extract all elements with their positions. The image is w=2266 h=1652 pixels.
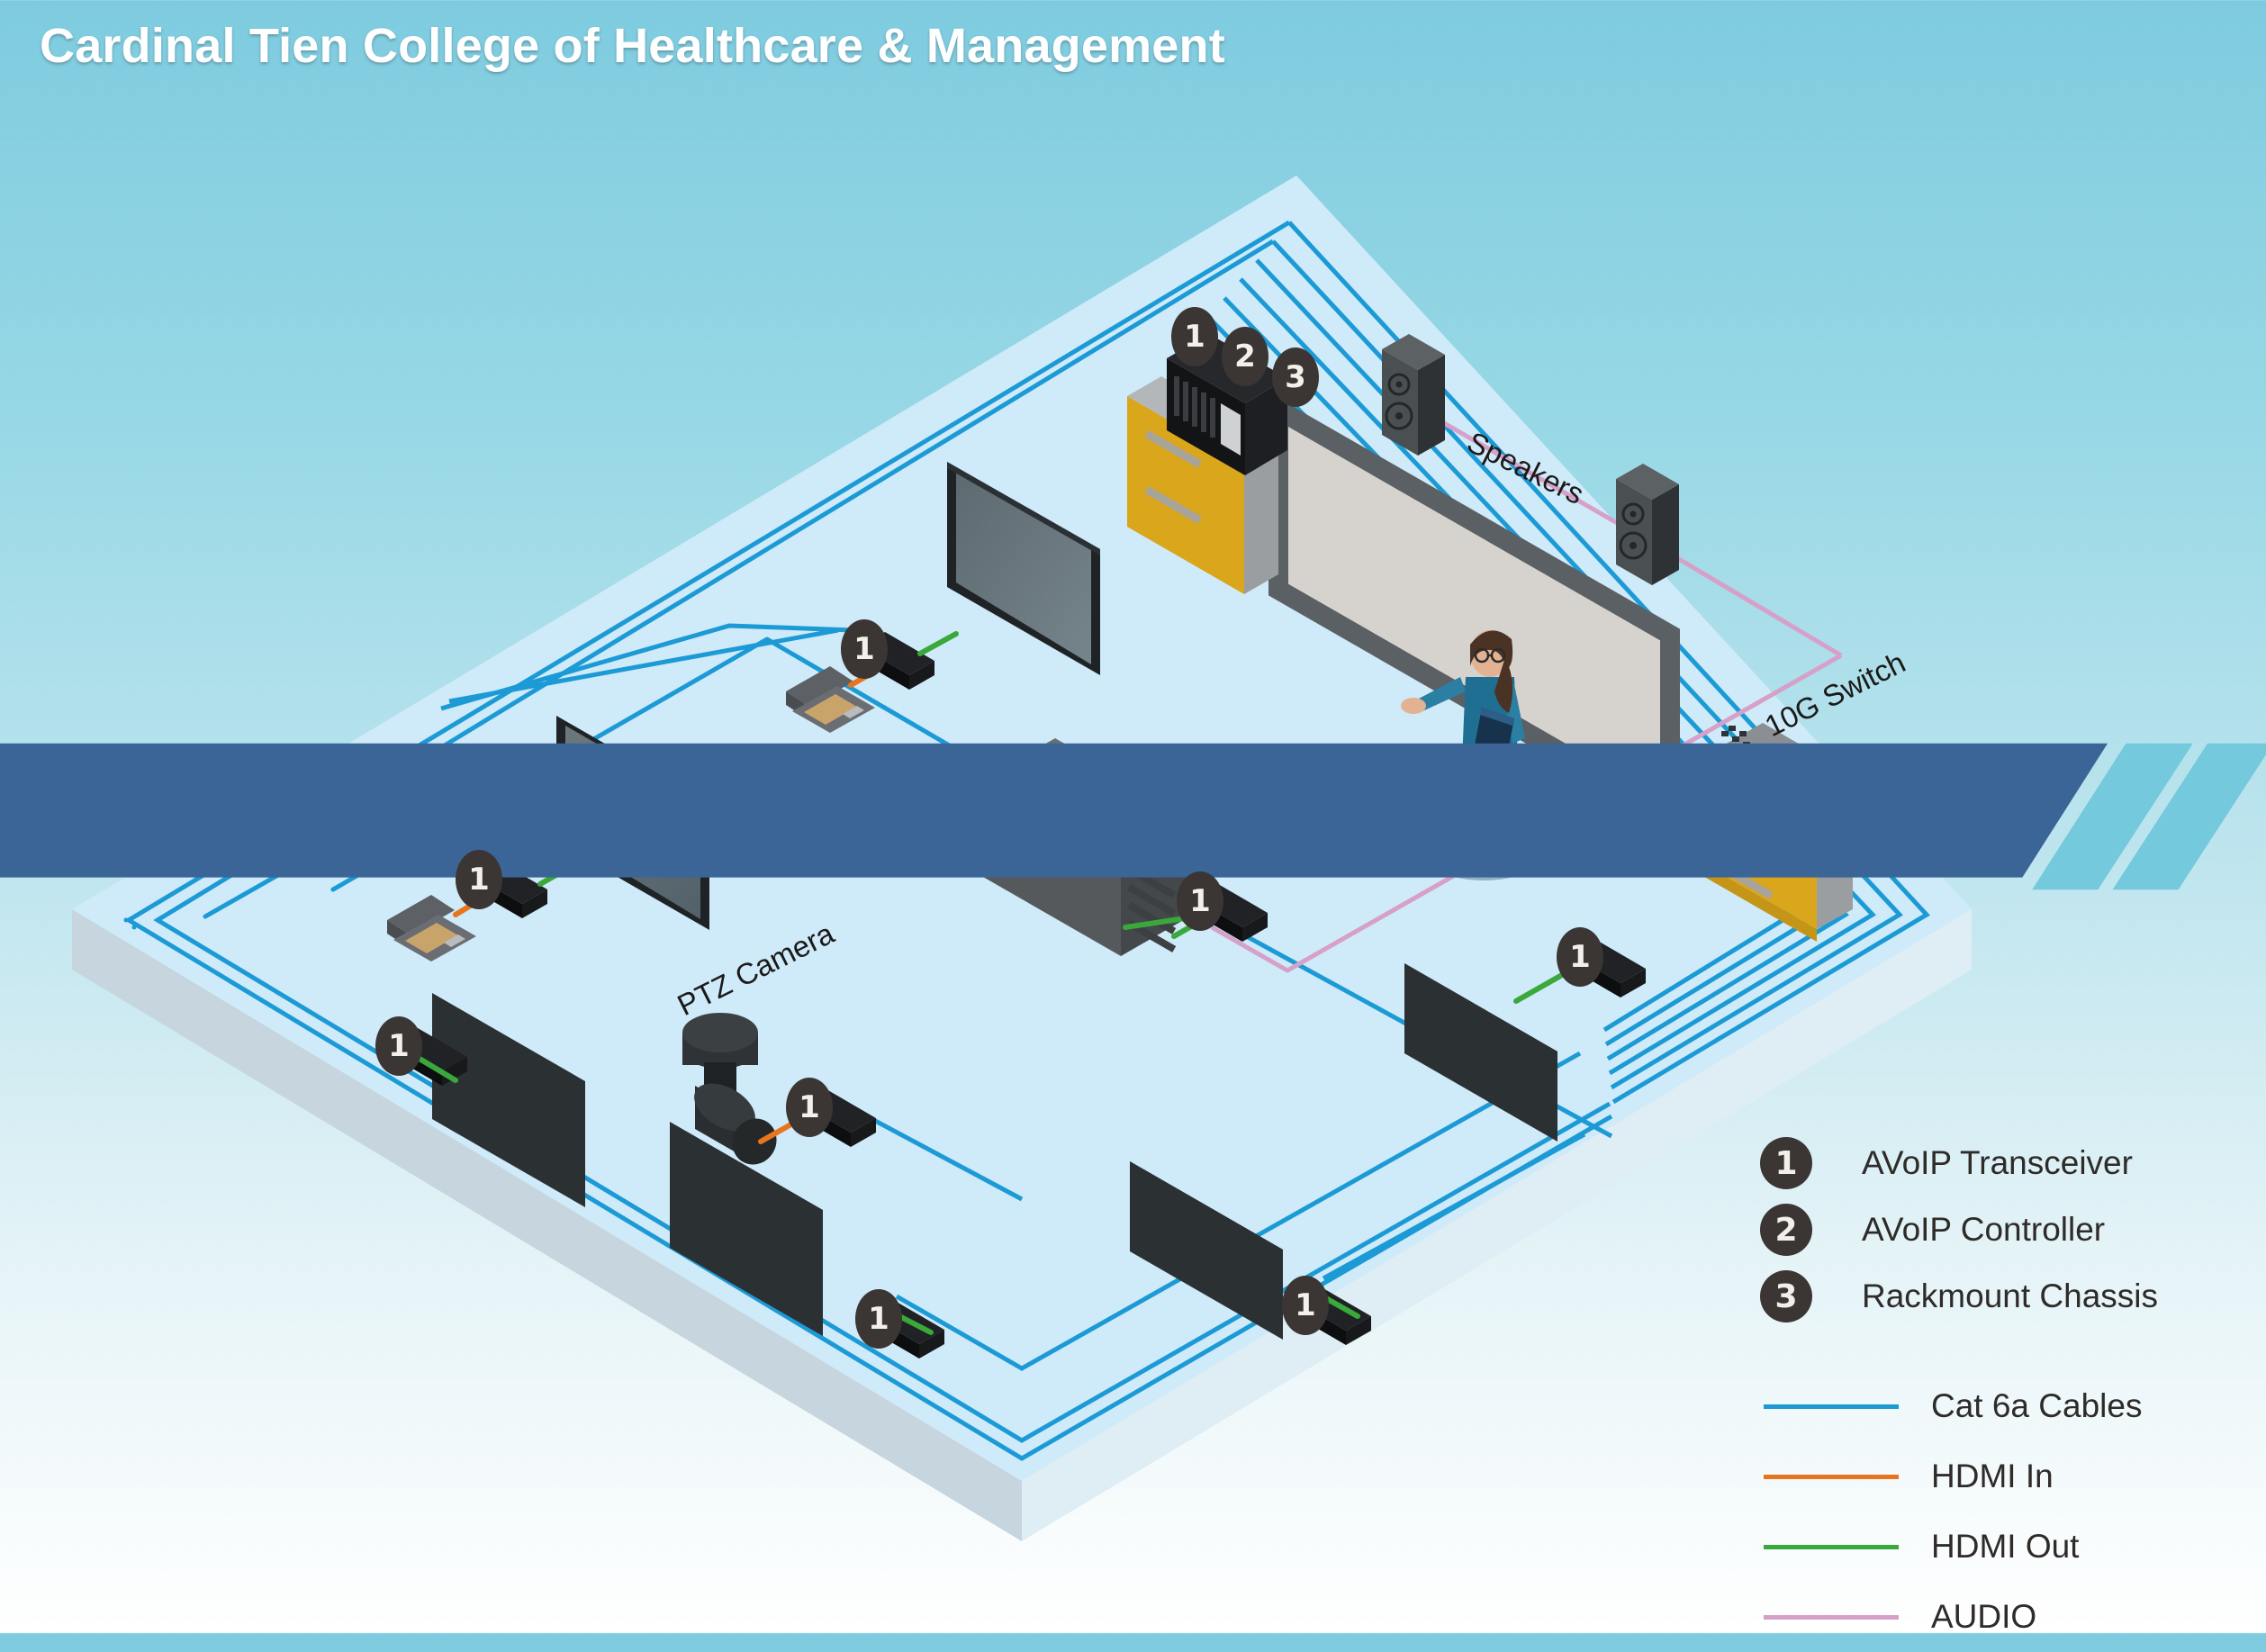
legend: 1AVoIP Transceiver2AVoIP Controller3Rack… [1760,1130,2246,1652]
legend-label-cat6a: Cat 6a Cables [1931,1387,2142,1425]
legend-label-3: Rackmount Chassis [1862,1277,2158,1315]
header-banner: Cardinal Tien College of Healthcare & Ma… [0,0,1675,108]
scene-badge-rackmount-chassis: 3 [1272,348,1319,407]
page-title: Cardinal Tien College of Healthcare & Ma… [40,18,1225,74]
legend-label-hdmi-out: HDMI Out [1931,1528,2079,1566]
legend-label-audio: AUDIO [1931,1598,2036,1636]
diagram-stage: Cardinal Tien College of Healthcare & Ma… [0,0,2266,1633]
legend-row-rackmount-chassis: 3Rackmount Chassis [1760,1263,2246,1330]
legend-label-hdmi-in: HDMI In [1931,1458,2054,1495]
legend-row-cat6a: Cat 6a Cables [1760,1371,2246,1441]
legend-swatch-cat6a [1764,1404,1899,1409]
legend-swatch-hdmi-in [1764,1475,1899,1479]
scene-badge-avoip-transceiver-rack: 1 [1171,307,1218,366]
scene-badge-transceiver-lower-left-display: 1 [855,1289,902,1349]
legend-row-hdmi-out: HDMI Out [1760,1512,2246,1582]
scene-badge-transceiver-right-display: 1 [1557,927,1603,987]
legend-row-avoip-transceiver: 1AVoIP Transceiver [1760,1130,2246,1196]
legend-numbered-list: 1AVoIP Transceiver2AVoIP Controller3Rack… [1760,1130,2246,1330]
legend-badge-2: 2 [1760,1204,1812,1256]
legend-cable-list: Cat 6a CablesHDMI InHDMI OutAUDIO [1760,1371,2246,1652]
scene-badge-transceiver-bottom-display: 1 [1282,1276,1329,1335]
legend-swatch-hdmi-out [1764,1545,1899,1549]
scene-badge-transceiver-ptz-camera: 1 [786,1078,833,1137]
legend-label-2: AVoIP Controller [1862,1211,2105,1249]
legend-row-hdmi-in: HDMI In [1760,1441,2246,1512]
scene-badge-avoip-controller-rack: 2 [1222,327,1268,386]
legend-row-avoip-controller: 2AVoIP Controller [1760,1196,2246,1263]
scene-badge-transceiver-left-display: 1 [456,850,502,909]
legend-label-1: AVoIP Transceiver [1862,1144,2133,1182]
scene-badge-transceiver-far-left-display: 1 [375,1016,422,1076]
scene-badge-transceiver-upper-left-display: 1 [841,619,888,679]
banner-band [0,744,2108,878]
legend-swatch-audio [1764,1615,1899,1620]
legend-badge-3: 3 [1760,1270,1812,1323]
scene-badge-transceiver-projector: 1 [1177,871,1223,931]
legend-row-audio: AUDIO [1760,1582,2246,1652]
legend-badge-1: 1 [1760,1137,1812,1189]
